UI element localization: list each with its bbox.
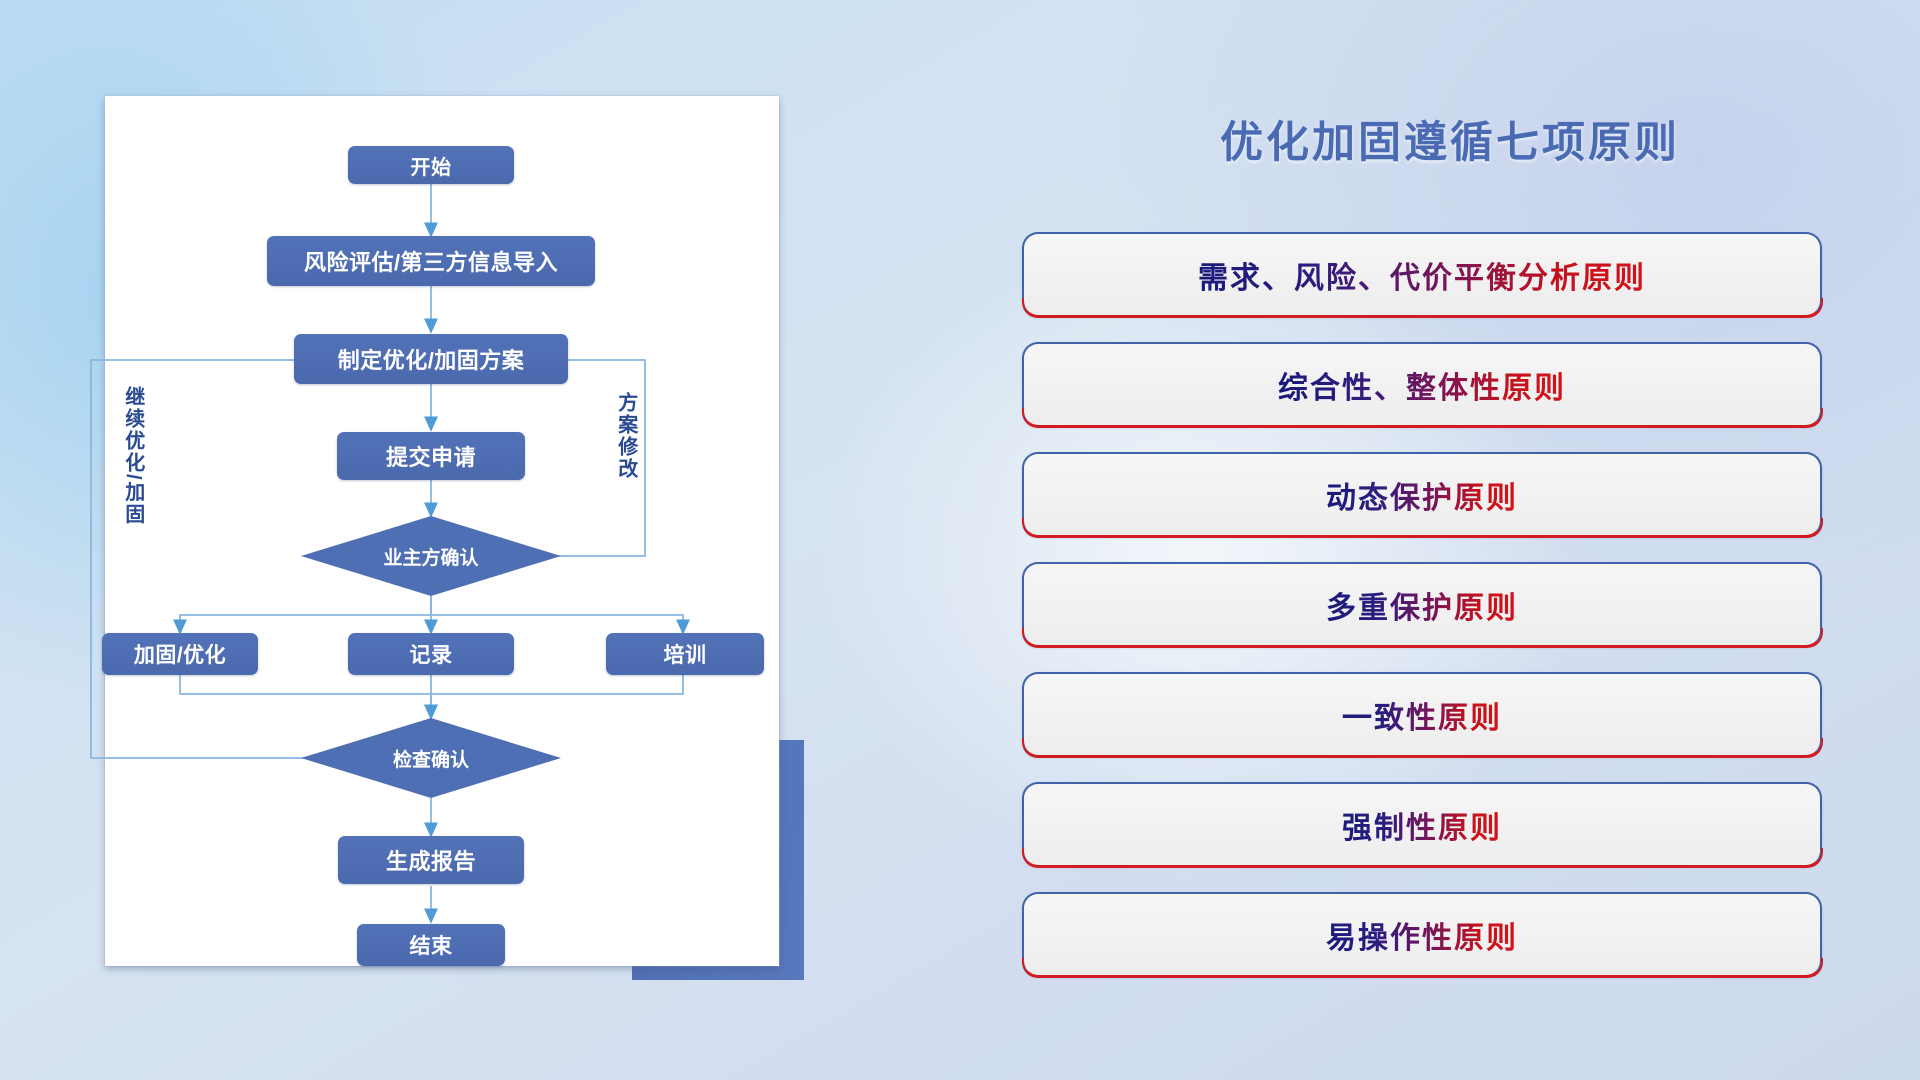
principle-card[interactable]: 需求、风险、代价平衡分析原则 xyxy=(1022,232,1822,317)
flow-node-training-label: 培训 xyxy=(664,639,707,669)
flow-node-end[interactable]: 结束 xyxy=(357,924,505,966)
flow-node-end-label: 结束 xyxy=(410,930,453,960)
flow-node-risk-assessment-label: 风险评估/第三方信息导入 xyxy=(304,245,558,277)
flow-node-plan[interactable]: 制定优化/加固方案 xyxy=(294,334,568,384)
principle-card[interactable]: 动态保护原则 xyxy=(1022,452,1822,537)
flow-node-reinforce-label: 加固/优化 xyxy=(134,639,226,669)
principle-card[interactable]: 综合性、整体性原则 xyxy=(1022,342,1822,427)
flow-node-plan-label: 制定优化/加固方案 xyxy=(338,343,525,375)
flowchart-card: 开始 风险评估/第三方信息导入 制定优化/加固方案 提交申请 业主方确认 加固/… xyxy=(105,96,779,966)
principles-title: 优化加固遵循七项原则 xyxy=(1030,108,1870,170)
flow-node-start-label: 开始 xyxy=(411,151,452,180)
flow-node-owner-confirm-label: 业主方确认 xyxy=(383,543,478,570)
principle-card[interactable]: 多重保护原则 xyxy=(1022,562,1822,647)
principle-card[interactable]: 一致性原则 xyxy=(1022,672,1822,757)
flow-node-check-confirm-label: 检查确认 xyxy=(393,745,469,772)
flow-node-training[interactable]: 培训 xyxy=(606,633,764,675)
principle-card[interactable]: 强制性原则 xyxy=(1022,782,1822,867)
principle-card-label: 综合性、整体性原则 xyxy=(1278,363,1566,407)
flow-node-start[interactable]: 开始 xyxy=(348,146,514,184)
flow-node-reinforce[interactable]: 加固/优化 xyxy=(102,633,258,675)
flow-node-risk-assessment[interactable]: 风险评估/第三方信息导入 xyxy=(267,236,595,286)
principle-card-label: 需求、风险、代价平衡分析原则 xyxy=(1198,253,1646,297)
flow-node-report[interactable]: 生成报告 xyxy=(338,836,524,884)
flow-edge-label-continue-optimize: 继续优化/加固 xyxy=(122,386,143,526)
flow-node-submit[interactable]: 提交申请 xyxy=(337,432,525,480)
slide-canvas: 开始 风险评估/第三方信息导入 制定优化/加固方案 提交申请 业主方确认 加固/… xyxy=(0,0,1920,1080)
flow-node-check-confirm[interactable]: 检查确认 xyxy=(301,718,561,798)
flow-node-record[interactable]: 记录 xyxy=(348,633,514,675)
principles-list: 需求、风险、代价平衡分析原则 综合性、整体性原则 动态保护原则 多重保护原则 一… xyxy=(1022,232,1822,1002)
flowchart-diagram: 开始 风险评估/第三方信息导入 制定优化/加固方案 提交申请 业主方确认 加固/… xyxy=(105,96,779,966)
principle-card-label: 动态保护原则 xyxy=(1326,473,1518,517)
principle-card-label: 易操作性原则 xyxy=(1326,913,1518,957)
principle-card-label: 强制性原则 xyxy=(1342,803,1502,847)
flow-node-record-label: 记录 xyxy=(410,639,453,669)
flow-edge-label-plan-revision: 方案修改 xyxy=(615,392,636,480)
principle-card-label: 一致性原则 xyxy=(1342,693,1502,737)
flow-node-report-label: 生成报告 xyxy=(386,844,476,876)
principle-card-label: 多重保护原则 xyxy=(1326,583,1518,627)
flow-node-submit-label: 提交申请 xyxy=(386,440,476,472)
flow-node-owner-confirm[interactable]: 业主方确认 xyxy=(301,516,561,596)
principle-card[interactable]: 易操作性原则 xyxy=(1022,892,1822,977)
